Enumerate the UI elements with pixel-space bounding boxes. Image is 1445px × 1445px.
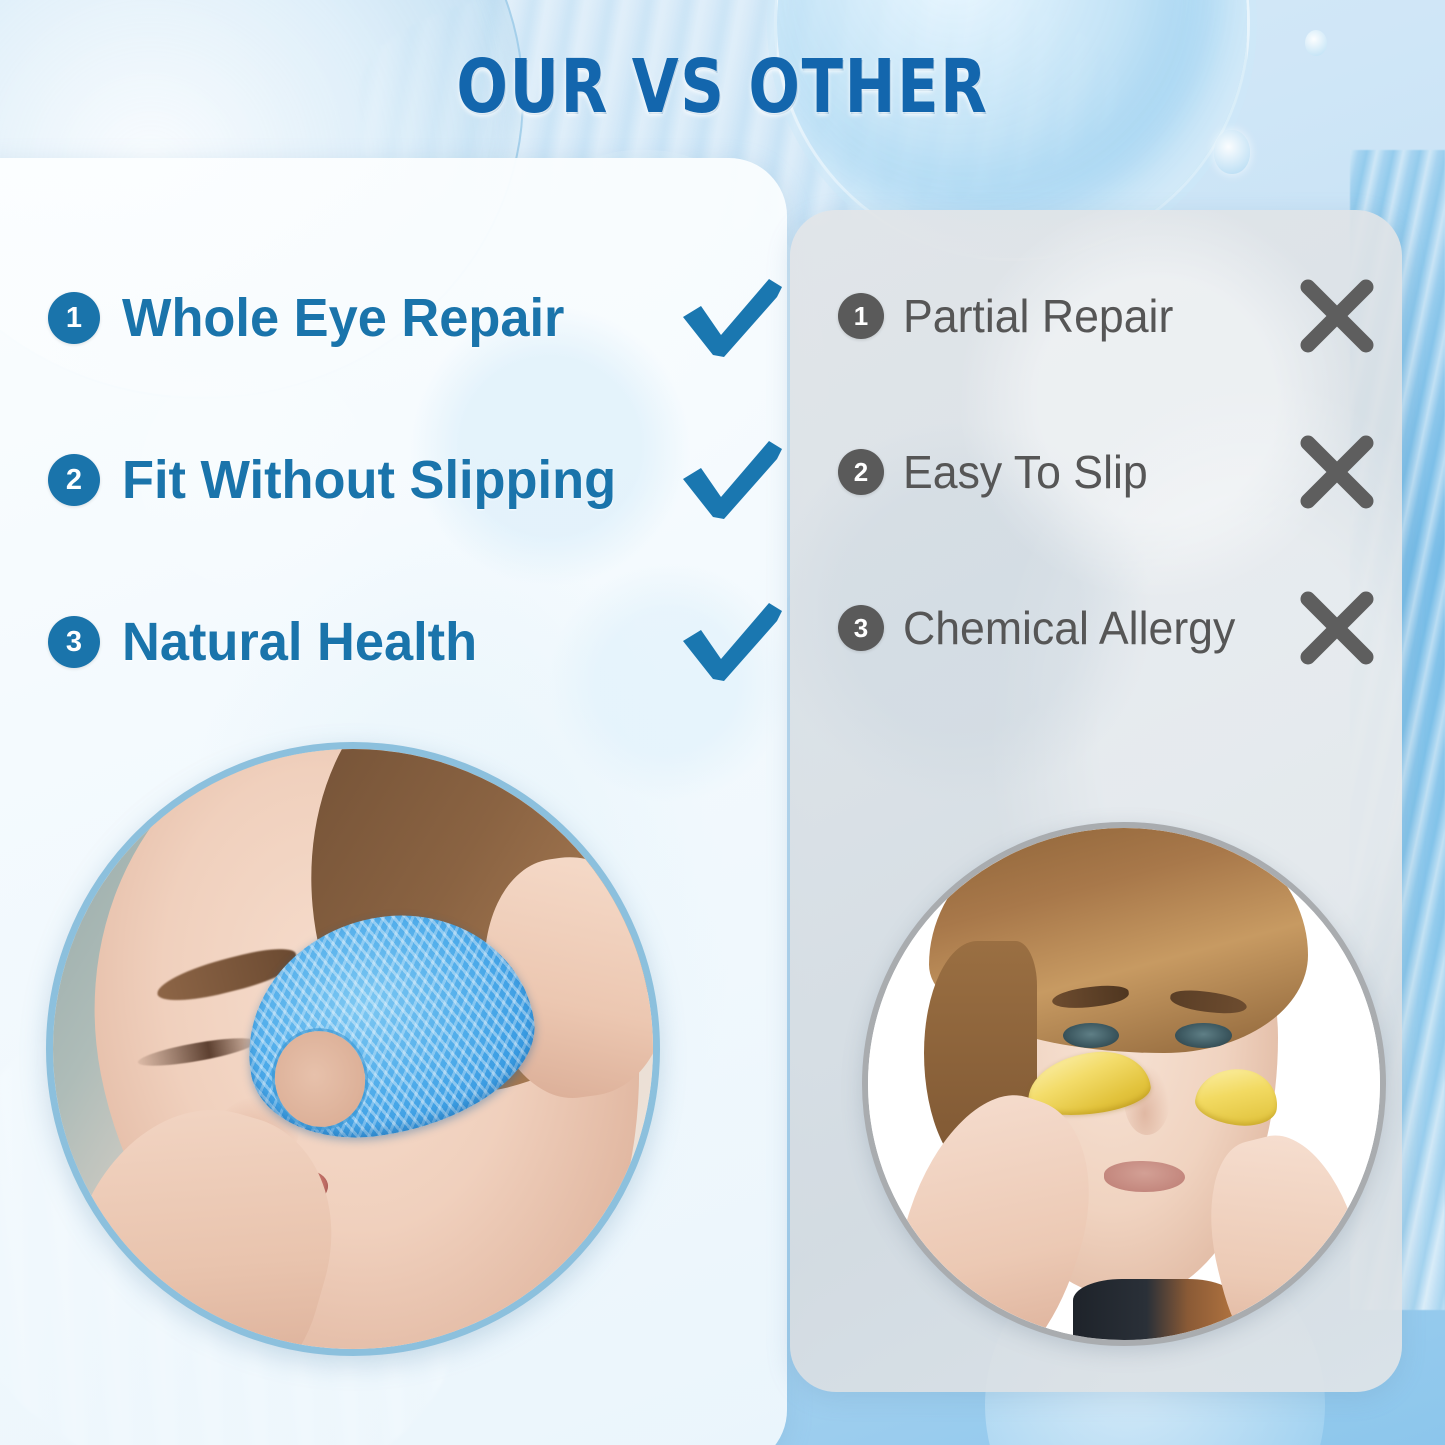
- other-feature-list: 1 Partial Repair 2 Easy To Slip: [838, 280, 1383, 748]
- other-feature-row-3: 3 Chemical Allergy: [838, 592, 1383, 664]
- our-item-2-label: Fit Without Slipping: [122, 449, 661, 511]
- page-title: OUR VS OTHER: [130, 44, 1315, 130]
- our-item-2-number-badge: 2: [48, 454, 100, 506]
- cross-icon: [1291, 276, 1383, 356]
- other-product-photo: [862, 822, 1386, 1346]
- our-item-3-number-badge: 3: [48, 616, 100, 668]
- our-product-photo: [46, 742, 660, 1356]
- check-icon: [678, 275, 788, 361]
- other-item-3-number-badge: 3: [838, 605, 884, 651]
- our-feature-row-2: 2 Fit Without Slipping: [48, 444, 788, 516]
- other-item-1-number-badge: 1: [838, 293, 884, 339]
- water-droplet-icon: [1214, 130, 1250, 174]
- our-feature-list: 1 Whole Eye Repair 2 Fit Without Slippin…: [48, 282, 788, 768]
- other-feature-row-2: 2 Easy To Slip: [838, 436, 1383, 508]
- other-item-1-label: Partial Repair: [903, 289, 1279, 343]
- check-icon: [678, 437, 788, 523]
- our-feature-row-3: 3 Natural Health: [48, 606, 788, 678]
- woman-applying-gold-undereye-patches-photo: [868, 828, 1380, 1340]
- woman-applying-blue-gel-eye-mask-photo: [53, 749, 653, 1349]
- other-item-3-label: Chemical Allergy: [903, 601, 1279, 655]
- our-feature-row-1: 1 Whole Eye Repair: [48, 282, 788, 354]
- infographic-canvas: OUR VS OTHER 1 Whole Eye Repair 2 Fit Wi…: [0, 0, 1445, 1445]
- cross-icon: [1291, 432, 1383, 512]
- cross-icon: [1291, 588, 1383, 668]
- other-feature-row-1: 1 Partial Repair: [838, 280, 1383, 352]
- our-item-1-number-badge: 1: [48, 292, 100, 344]
- other-item-2-number-badge: 2: [838, 449, 884, 495]
- our-item-1-label: Whole Eye Repair: [122, 287, 661, 349]
- other-item-2-label: Easy To Slip: [903, 445, 1279, 499]
- our-item-3-label: Natural Health: [122, 611, 661, 673]
- check-icon: [678, 599, 788, 685]
